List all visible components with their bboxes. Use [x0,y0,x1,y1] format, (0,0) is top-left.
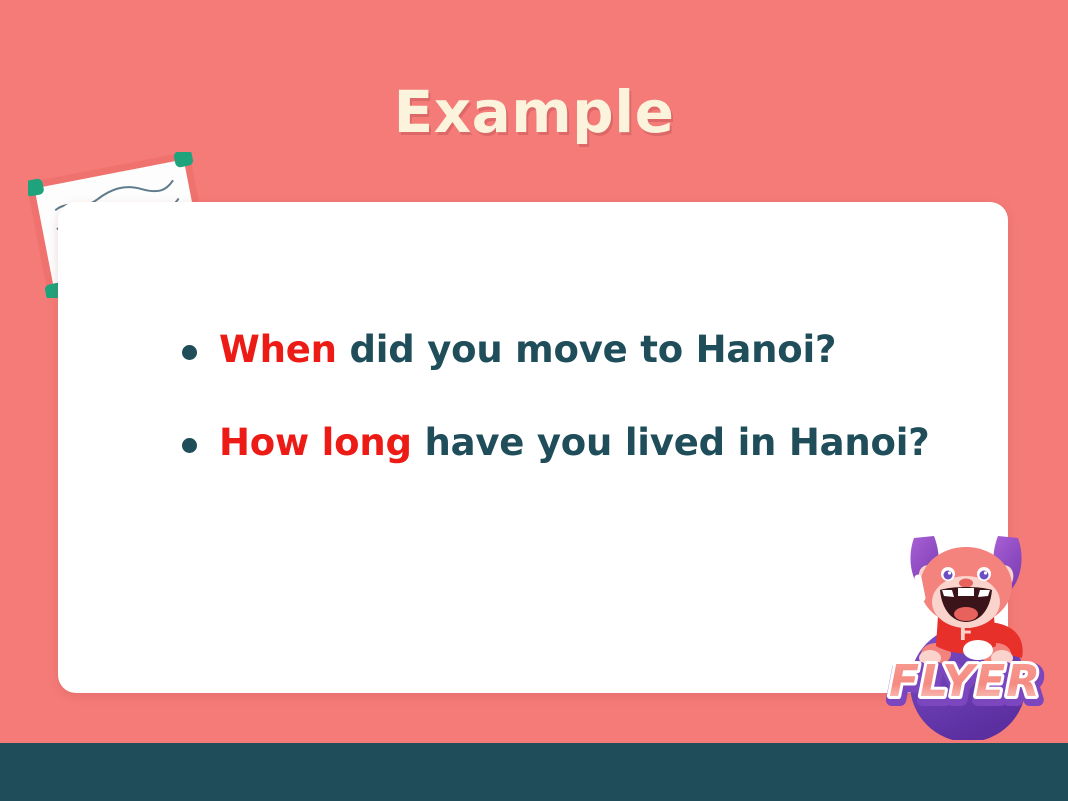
bullet-dot-icon [182,438,197,453]
question-rest: have you lived in Hanoi? [412,421,930,464]
question-list: When did you move to Hanoi? How long hav… [182,330,972,515]
slide-canvas: Example [0,0,1068,801]
bullet-dot-icon [182,345,197,360]
list-item: When did you move to Hanoi? [182,330,972,371]
question-highlight: How long [219,421,412,464]
page-title: Example [0,82,1068,143]
list-item: How long have you lived in Hanoi? [182,423,972,464]
flyer-mascot-icon: F [866,524,1064,740]
flyer-wordmark: FLYER [889,656,1041,707]
question-text: When did you move to Hanoi? [219,330,836,371]
question-text: How long have you lived in Hanoi? [219,423,930,464]
bottom-bar [0,743,1068,801]
question-highlight: When [219,328,337,371]
question-rest: did you move to Hanoi? [337,328,836,371]
